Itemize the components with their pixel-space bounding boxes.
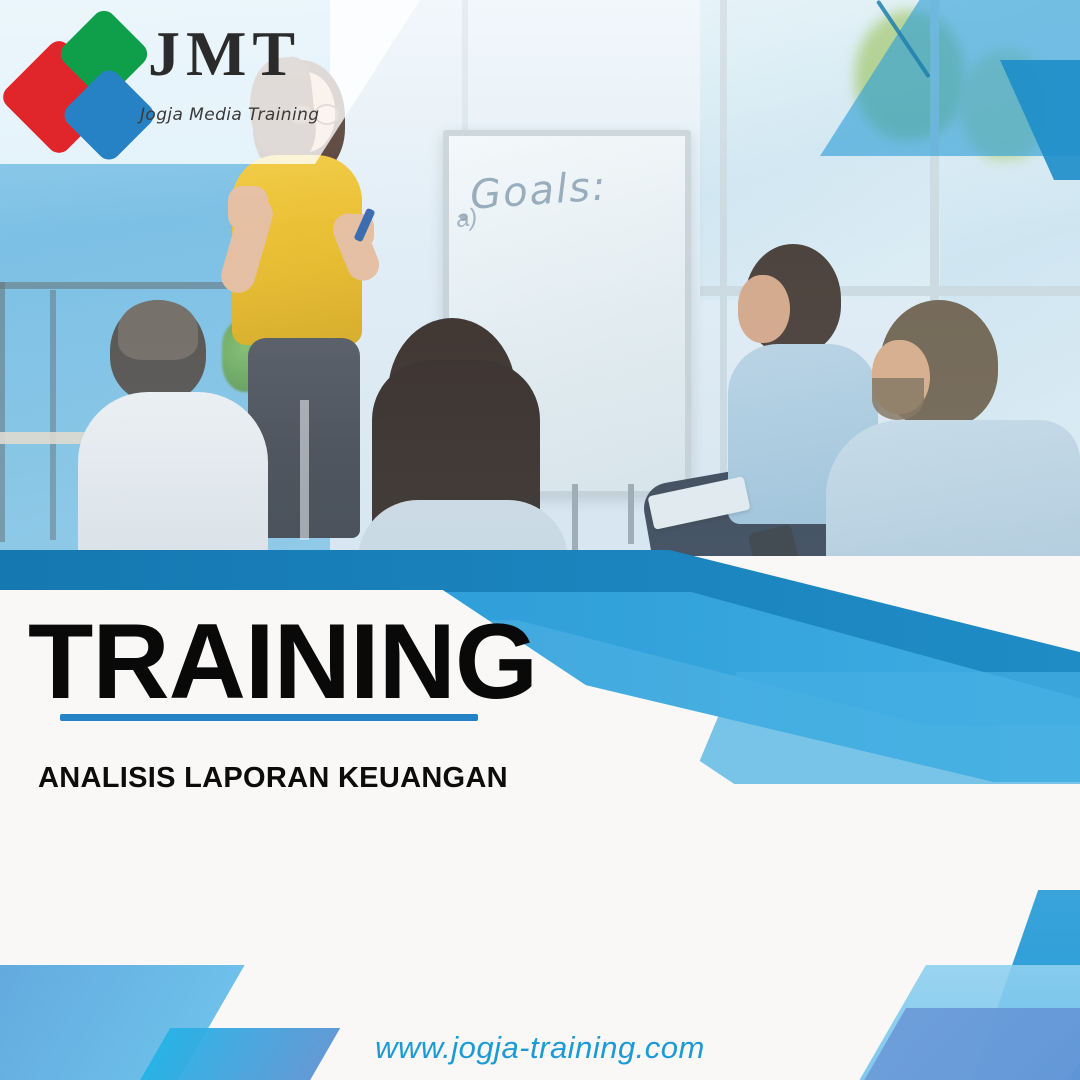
website-url[interactable]: www.jogja-training.com — [0, 1030, 1080, 1066]
blue-band-soft — [690, 672, 1080, 784]
logo-mark — [8, 14, 148, 154]
attendee-4-beard — [872, 378, 924, 420]
attendee-4-shirt — [826, 420, 1080, 556]
whiteboard-goals-text: Goals: — [469, 163, 609, 218]
presenter-hand-left — [228, 186, 268, 230]
attendee-3-face — [738, 275, 790, 343]
title-underline — [60, 714, 478, 721]
logo-tagline: Jogja Media Training — [140, 105, 319, 125]
attendee-1-hair — [118, 300, 198, 360]
page-title: TRAINING — [28, 608, 537, 715]
attendee-2-shirt — [358, 500, 568, 556]
page-subtitle: ANALISIS LAPORAN KEUANGAN — [38, 762, 508, 795]
training-poster: a) Goals: — [0, 0, 1080, 1080]
shelf-rail-top — [0, 282, 240, 289]
shelf-post-left — [0, 282, 5, 542]
presenter-leg-gap — [300, 400, 309, 540]
whiteboard-leg-left — [572, 484, 578, 556]
whiteboard-dot — [460, 214, 467, 221]
attendee-1-shirt — [78, 392, 268, 556]
logo-wordmark: JMT — [148, 22, 301, 86]
shelf-post-right — [50, 290, 56, 540]
whiteboard-leg-right — [628, 484, 634, 544]
